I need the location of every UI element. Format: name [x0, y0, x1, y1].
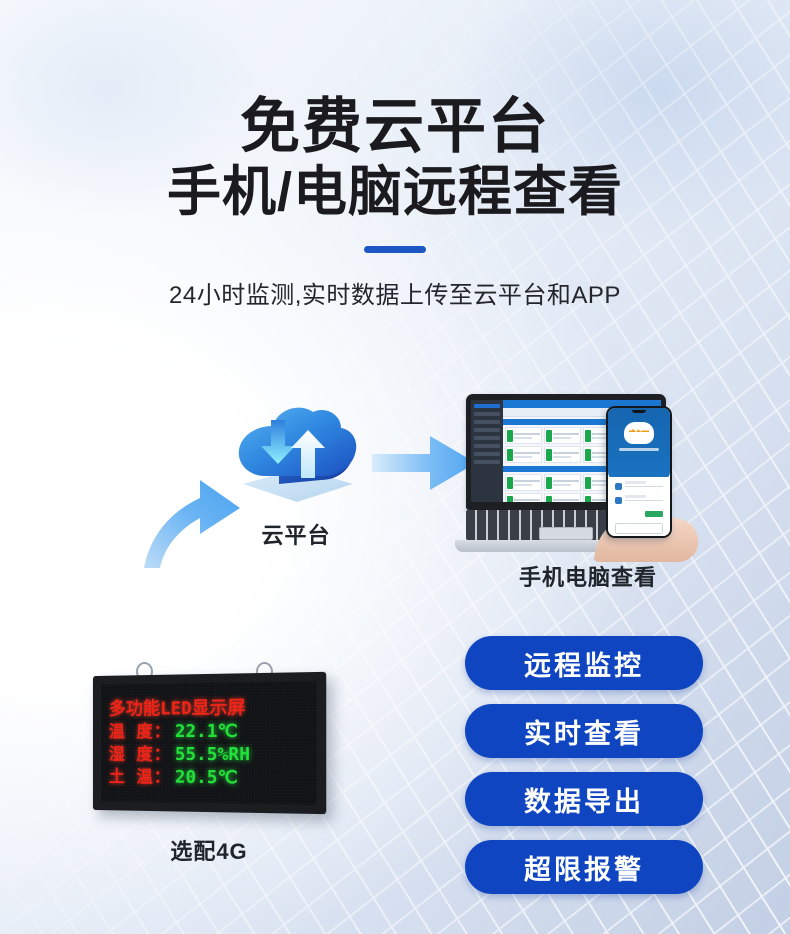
header: 免费云平台 手机/电脑远程查看 24小时监测,实时数据上传至云平台和APP: [0, 0, 790, 310]
page-title-line2: 手机/电脑远程查看: [0, 164, 790, 221]
sidebar-item: [474, 428, 500, 432]
sidebar-item: [474, 460, 500, 464]
username-field[interactable]: [615, 483, 663, 490]
led-display-block: 多功能LED显示屏 温 度： 22.1℃ 湿 度： 55.5%RH 土 温： 2…: [88, 662, 330, 822]
sidebar-item: [474, 452, 500, 456]
phone-login-card: [608, 477, 670, 536]
phone-notch: [632, 410, 646, 413]
password-field[interactable]: [615, 497, 663, 504]
promo-page: 免费云平台 手机/电脑远程查看 24小时监测,实时数据上传至云平台和APP: [0, 0, 790, 934]
sidebar-item: [474, 412, 500, 416]
app-logo-text: [619, 448, 659, 451]
cloud-platform-label: 云平台: [196, 518, 396, 550]
cloud-platform-block: 云平台: [196, 392, 396, 550]
app-logo-cloud-wave-icon: [624, 422, 654, 444]
led-row-label: 土 温：: [109, 767, 171, 788]
captcha-row[interactable]: [615, 511, 663, 517]
devices-caption: 手机电脑查看: [438, 560, 738, 592]
phone-device: [606, 406, 672, 538]
device-tile: [544, 493, 581, 502]
sidebar-item: [474, 404, 500, 408]
laptop-trackpad: [539, 527, 593, 540]
led-row-temperature: 温 度： 22.1℃: [109, 721, 309, 743]
feature-button-data-export[interactable]: 数据导出: [465, 772, 703, 826]
title-divider-wrap: [0, 246, 790, 253]
device-tile: [505, 446, 542, 463]
led-row-label: 湿 度：: [109, 745, 171, 765]
devices-illustration: [438, 384, 738, 559]
title-divider: [364, 246, 426, 253]
captcha-image: [645, 511, 663, 517]
device-tile: [505, 427, 542, 444]
led-display-screen: 多功能LED显示屏 温 度： 22.1℃ 湿 度： 55.5%RH 土 温： 2…: [101, 681, 316, 805]
lock-icon: [615, 497, 622, 504]
page-title-line1: 免费云平台: [0, 96, 790, 158]
feature-button-list: 远程监控 实时查看 数据导出 超限报警: [465, 636, 705, 908]
led-row-value: 22.1℃: [175, 721, 238, 743]
dashboard-sidebar: [471, 400, 503, 502]
device-tile: [505, 493, 542, 502]
phone-screen-app: [608, 408, 670, 536]
feature-button-remote-monitoring[interactable]: 远程监控: [465, 636, 703, 690]
led-row-value: 20.5℃: [175, 766, 238, 788]
led-row-soil-temperature: 土 温： 20.5℃: [109, 766, 309, 789]
led-row-label: 温 度：: [109, 723, 171, 743]
sidebar-item: [474, 420, 500, 424]
feature-button-realtime-view[interactable]: 实时查看: [465, 704, 703, 758]
sidebar-item: [474, 436, 500, 440]
user-icon: [615, 483, 622, 490]
feature-button-threshold-alarm[interactable]: 超限报警: [465, 840, 703, 894]
led-row-value: 55.5%RH: [175, 744, 250, 766]
sidebar-item: [474, 444, 500, 448]
led-display-frame: 多功能LED显示屏 温 度： 22.1℃ 湿 度： 55.5%RH 土 温： 2…: [93, 672, 326, 814]
cloud-sync-icon: [221, 392, 371, 512]
page-subtitle: 24小时监测,实时数据上传至云平台和APP: [0, 275, 790, 310]
device-tile: [544, 474, 581, 491]
server-select[interactable]: [615, 523, 663, 534]
device-tile: [544, 446, 581, 463]
led-title: 多功能LED显示屏: [109, 697, 309, 721]
led-row-humidity: 湿 度： 55.5%RH: [109, 744, 309, 766]
device-tile: [505, 474, 542, 491]
led-caption: 选配4G: [88, 834, 330, 866]
phone-app-header: [608, 408, 670, 480]
device-tile: [544, 427, 581, 444]
